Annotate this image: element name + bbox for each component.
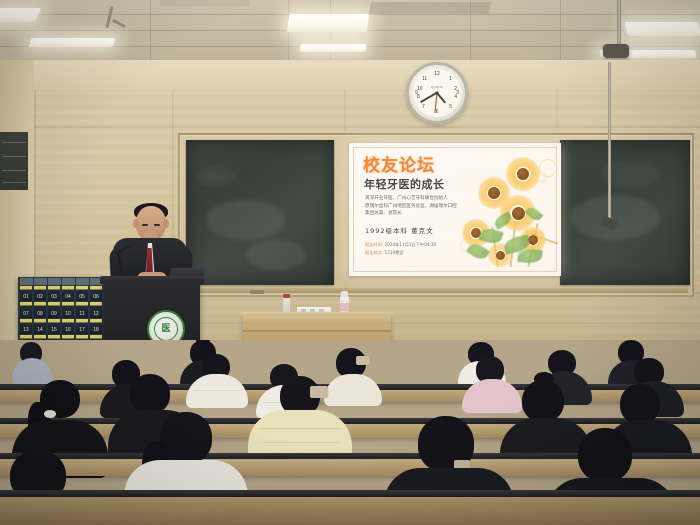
rack-cell-number: 13 bbox=[23, 328, 29, 334]
person-coat bbox=[324, 374, 382, 406]
rack-cell-number: 10 bbox=[65, 312, 71, 318]
wall-clock: 12 1 2 3 4 5 6 7 8 9 10 11 QUARTZ bbox=[406, 62, 468, 124]
rack-cell[interactable]: 16 bbox=[62, 319, 75, 334]
slide-body-line: 集团总裁、总院长 bbox=[365, 210, 485, 218]
microphone-head-icon bbox=[131, 241, 137, 247]
slide-meta-row: 报告时间: 2024年11月1日下午04:30 bbox=[365, 241, 436, 249]
person-head bbox=[130, 374, 170, 414]
rack-header-row bbox=[19, 278, 103, 285]
hair-tie bbox=[44, 410, 56, 418]
rack-cell-number: 14 bbox=[37, 328, 43, 334]
clock-numeral: 12 bbox=[434, 71, 440, 77]
desk-front-panel bbox=[0, 497, 700, 525]
rack-cell[interactable]: 15 bbox=[48, 319, 61, 334]
slide-meta-key: 报告地点: bbox=[365, 250, 383, 255]
clock-numeral: 7 bbox=[422, 104, 425, 110]
slide-body-line: 原瑞尔齿科广州地区医务总监、湖居瑞尔口腔 bbox=[365, 203, 485, 211]
chalkboard-left bbox=[186, 140, 334, 285]
rack-cell-number: 09 bbox=[51, 312, 57, 318]
rack-cell[interactable]: 02 bbox=[34, 286, 47, 301]
rack-row: 13 14 15 16 17 18 bbox=[19, 318, 103, 335]
rack-cell[interactable]: 13 bbox=[20, 319, 33, 334]
rack-cell-number: 07 bbox=[23, 312, 29, 318]
rack-cell[interactable]: 01 bbox=[20, 286, 33, 301]
rack-cell[interactable]: 17 bbox=[76, 319, 89, 334]
ceiling-light bbox=[0, 8, 41, 22]
rack-cell-number: 04 bbox=[65, 295, 71, 301]
rack-cell[interactable]: 18 bbox=[90, 319, 103, 334]
speaker-ear-right bbox=[163, 219, 169, 228]
rack-cell[interactable]: 12 bbox=[90, 302, 103, 317]
clock-brand-text: QUARTZ bbox=[431, 85, 443, 89]
slide-meta-row: 报告地点: 1310教室 bbox=[365, 249, 436, 257]
slide-meta: 报告时间: 2024年11月1日下午04:30 报告地点: 1310教室 bbox=[365, 241, 436, 256]
rack-cell-number: 11 bbox=[79, 312, 84, 318]
lecture-hall-photo: 12 1 2 3 4 5 6 7 8 9 10 11 QUARTZ bbox=[0, 0, 700, 525]
ceiling-light bbox=[287, 14, 370, 32]
rack-cell[interactable]: 14 bbox=[34, 319, 47, 334]
rack-cell[interactable]: 08 bbox=[34, 302, 47, 317]
rack-cell[interactable]: 03 bbox=[48, 286, 61, 301]
rack-cell-number: 01 bbox=[23, 295, 29, 301]
ceiling-hook-arm-icon bbox=[112, 19, 126, 28]
rack-cell[interactable]: 07 bbox=[20, 302, 33, 317]
rack-cell-number: 05 bbox=[79, 295, 85, 301]
seal-mark-text: 医 bbox=[161, 325, 170, 334]
rack-cell-number: 15 bbox=[51, 328, 57, 334]
person-head bbox=[522, 380, 564, 422]
ceiling-light bbox=[300, 44, 367, 52]
desk-rail bbox=[0, 490, 700, 497]
slide-subtitle: 年轻牙医的成长 bbox=[364, 176, 445, 192]
rack-cell-number: 18 bbox=[93, 328, 99, 334]
ceiling bbox=[0, 0, 700, 62]
rack-cell[interactable]: 05 bbox=[76, 286, 89, 301]
rack-cell-number: 12 bbox=[93, 312, 99, 318]
projector-mount-pole bbox=[617, 0, 621, 48]
slide-meta-key: 报告时间: bbox=[365, 242, 383, 247]
rack-cell[interactable]: 10 bbox=[62, 302, 75, 317]
slide-meta-value: 2024年11月1日下午04:30 bbox=[385, 242, 437, 247]
rack-cell[interactable]: 11 bbox=[76, 302, 89, 317]
rack-cell-number: 17 bbox=[79, 328, 85, 334]
person-hair-bun bbox=[534, 372, 554, 386]
person-head bbox=[578, 428, 632, 482]
slide-body-text: 资深开业牙医、广州心艺牙科联合创始人 原瑞尔齿科广州地区医务总监、湖居瑞尔口腔 … bbox=[365, 195, 485, 218]
clock-numeral: 11 bbox=[422, 76, 427, 82]
hair-clip bbox=[310, 386, 328, 398]
rack-cell-number: 02 bbox=[37, 295, 43, 301]
desk-rail bbox=[0, 418, 700, 424]
wall-upper-strip bbox=[0, 60, 700, 90]
rack-cell-number: 06 bbox=[93, 295, 99, 301]
rack-cell-number: 08 bbox=[37, 312, 43, 318]
person-coat bbox=[12, 358, 52, 384]
speaker-ear-left bbox=[133, 219, 139, 228]
rack-row: 07 08 09 10 11 12 bbox=[19, 302, 103, 319]
rack-cell-number: 16 bbox=[65, 328, 71, 334]
rack-cell[interactable]: 06 bbox=[90, 286, 103, 301]
clock-center-pin bbox=[436, 92, 439, 95]
ceiling-hook-icon bbox=[105, 6, 113, 28]
slide-body-line: 资深开业牙医、广州心艺牙科联合创始人 bbox=[365, 195, 485, 203]
hair-clip bbox=[356, 356, 370, 365]
audience-area bbox=[0, 340, 700, 525]
ledge-clip bbox=[250, 290, 264, 294]
rack-row: 01 02 03 04 05 06 bbox=[19, 285, 103, 302]
clock-numeral: 1 bbox=[449, 76, 452, 82]
clock-numeral: 5 bbox=[449, 104, 452, 110]
slide-speaker-line: 1992级本科 董克文 bbox=[365, 225, 434, 235]
slide-title: 校友论坛 bbox=[363, 151, 435, 176]
chalkboard-right bbox=[560, 140, 690, 285]
seal-inner-ring: 医 bbox=[154, 317, 178, 341]
clock-numeral: 4 bbox=[454, 94, 457, 100]
projected-slide: 校友论坛 年轻牙医的成长 资深开业牙医、广州心艺牙科联合创始人 原瑞尔齿科广州地… bbox=[349, 143, 561, 276]
ceiling-light bbox=[624, 22, 700, 36]
projector-icon bbox=[603, 44, 629, 58]
rack-cell[interactable]: 09 bbox=[48, 302, 61, 317]
sanitizer-pump[interactable] bbox=[341, 291, 348, 297]
clock-numeral: 10 bbox=[417, 86, 423, 92]
rack-cell-number: 03 bbox=[51, 295, 57, 301]
clock-numeral: 6 bbox=[436, 109, 439, 115]
ceiling-light bbox=[28, 38, 115, 47]
left-cabinet bbox=[0, 132, 28, 190]
person-head bbox=[620, 384, 660, 424]
water-bottle-cap bbox=[283, 294, 290, 298]
hanging-mic-pole bbox=[608, 62, 611, 222]
slide-meta-value: 1310教室 bbox=[385, 250, 404, 255]
rack-cell[interactable]: 04 bbox=[62, 286, 75, 301]
